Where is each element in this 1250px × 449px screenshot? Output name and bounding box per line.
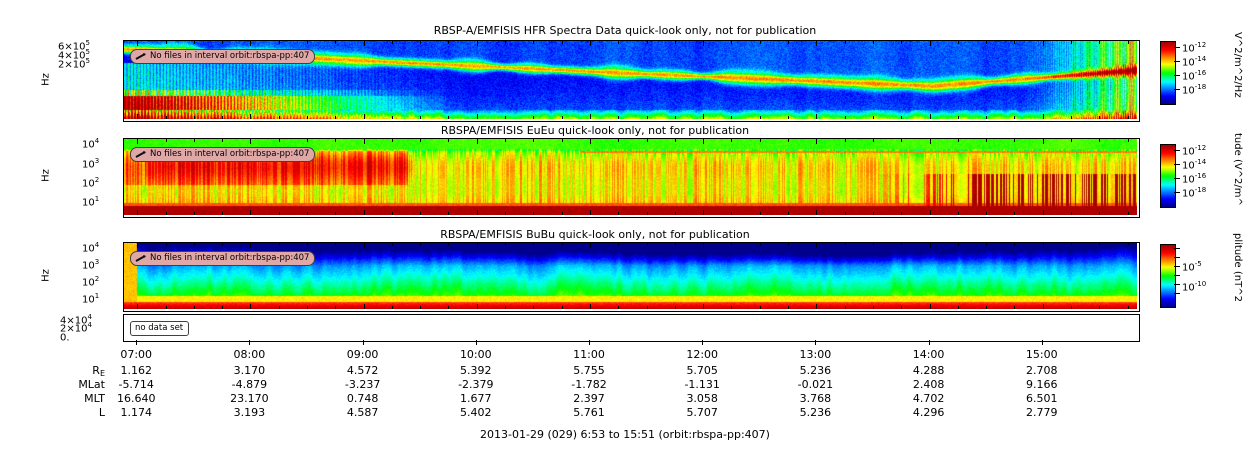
panel-minor-tick xyxy=(307,116,308,119)
ephemeris-value: 23.170 xyxy=(217,392,281,405)
panel-tick xyxy=(1043,210,1044,215)
panel-minor-tick xyxy=(1014,243,1015,246)
xaxis-tick xyxy=(929,340,930,345)
panel-minor-tick xyxy=(307,306,308,309)
panel-minor-tick xyxy=(986,116,987,119)
panel-minor-tick xyxy=(166,116,167,119)
ephemeris-value: 1.162 xyxy=(104,364,168,377)
badge-no-files-bubu[interactable]: No files in interval orbit:rbspa-pp:407 xyxy=(130,251,315,266)
panel-minor-tick xyxy=(505,41,506,44)
colorbar-bubu-tick-1: 10-10 xyxy=(1182,280,1206,293)
ephemeris-value: 5.707 xyxy=(670,406,734,419)
panel-minor-tick xyxy=(1128,243,1129,246)
ephemeris-value: 4.572 xyxy=(331,364,395,377)
panel-minor-tick xyxy=(533,243,534,246)
badge-label: No files in interval orbit:rbspa-pp:407 xyxy=(150,51,309,62)
panel-minor-tick xyxy=(448,139,449,142)
panel-minor-tick xyxy=(392,212,393,215)
panel-minor-tick xyxy=(901,243,902,246)
xaxis-tick-label: 08:00 xyxy=(225,348,273,361)
panel-minor-tick xyxy=(533,306,534,309)
panel-minor-tick xyxy=(194,116,195,119)
panel-minor-tick xyxy=(166,212,167,215)
panel-tick xyxy=(477,304,478,309)
panel-minor-tick xyxy=(420,139,421,142)
ephemeris-value: 3.058 xyxy=(670,392,734,405)
xaxis-tick xyxy=(1042,340,1043,345)
ephemeris-value: 5.392 xyxy=(444,364,508,377)
panel-minor-tick xyxy=(1099,41,1100,44)
panel-minor-tick xyxy=(901,306,902,309)
xaxis-tick xyxy=(815,340,816,345)
panel-minor-tick xyxy=(986,243,987,246)
panel-minor-tick xyxy=(420,212,421,215)
ytick-eueu-1: 103 xyxy=(82,157,99,170)
xaxis-tick xyxy=(136,340,137,345)
ephemeris-value: 0.748 xyxy=(331,392,395,405)
xaxis-tick-label: 12:00 xyxy=(678,348,726,361)
panel-minor-tick xyxy=(618,306,619,309)
xaxis-tick-label: 10:00 xyxy=(452,348,500,361)
panel-minor-tick xyxy=(647,139,648,142)
panel-tick xyxy=(930,41,931,46)
panel-minor-tick xyxy=(845,139,846,142)
xaxis-tick-label: 14:00 xyxy=(905,348,953,361)
panel-tick xyxy=(930,304,931,309)
panel-minor-tick xyxy=(647,41,648,44)
panel-tick xyxy=(250,210,251,215)
panel-minor-tick xyxy=(731,41,732,44)
colorbar-hfr-tick-3: 10-18 xyxy=(1182,83,1206,96)
badge-no-files-eueu[interactable]: No files in interval orbit:rbspa-pp:407 xyxy=(130,147,315,162)
colorbar-bubu-tick-0: 10-5 xyxy=(1182,260,1202,273)
panel-minor-tick xyxy=(562,116,563,119)
panel-minor-tick xyxy=(392,243,393,246)
panel-tick xyxy=(590,139,591,144)
panel-title-bubu: RBSPA/EMFISIS BuBu quick-look only, not … xyxy=(0,228,1190,241)
panel-tick xyxy=(590,41,591,46)
ephemeris-value: -3.237 xyxy=(331,378,395,391)
panel-minor-tick xyxy=(1014,306,1015,309)
panel-minor-tick xyxy=(873,116,874,119)
panel-tick xyxy=(364,210,365,215)
panel-minor-tick xyxy=(788,116,789,119)
panel-minor-tick xyxy=(731,212,732,215)
panel-minor-tick xyxy=(562,212,563,215)
panel-minor-tick xyxy=(505,212,506,215)
panel-minor-tick xyxy=(307,212,308,215)
panel-tick xyxy=(930,114,931,119)
panel-tick xyxy=(1043,243,1044,248)
panel-minor-tick xyxy=(647,116,648,119)
panel-minor-tick xyxy=(1071,116,1072,119)
panel-minor-tick xyxy=(1099,212,1100,215)
panel-tick xyxy=(364,114,365,119)
colorbar-eueu-ticks: 10-12 10-14 10-16 10-18 xyxy=(1174,144,1234,206)
panel-minor-tick xyxy=(335,306,336,309)
ephemeris-value: 1.677 xyxy=(444,392,508,405)
ephemeris-value: 4.288 xyxy=(897,364,961,377)
panel-tick xyxy=(816,210,817,215)
ephemeris-value: 2.708 xyxy=(1010,364,1074,377)
panel-minor-tick xyxy=(448,243,449,246)
panel-minor-tick xyxy=(958,139,959,142)
panel-minor-tick xyxy=(1128,41,1129,44)
panel-minor-tick xyxy=(845,116,846,119)
panel-minor-tick xyxy=(1071,139,1072,142)
ytick-bubu-0: 104 xyxy=(82,241,99,254)
panel-minor-tick xyxy=(279,212,280,215)
ephemeris-value: -4.879 xyxy=(217,378,281,391)
panel-no-data-set[interactable] xyxy=(123,314,1140,342)
panel-minor-tick xyxy=(1128,139,1129,142)
panel-minor-tick xyxy=(194,41,195,44)
ephemeris-row-label: RE xyxy=(0,364,105,378)
panel-minor-tick xyxy=(760,116,761,119)
panel-minor-tick xyxy=(562,306,563,309)
ytick-bubu-3: 101 xyxy=(82,292,99,305)
panel-minor-tick xyxy=(533,41,534,44)
panel-minor-tick xyxy=(222,139,223,142)
no-files-icon xyxy=(135,255,147,262)
panel-minor-tick xyxy=(307,243,308,246)
xaxis-tick-label: 13:00 xyxy=(791,348,839,361)
panel-tick xyxy=(250,114,251,119)
panel-minor-tick xyxy=(533,116,534,119)
panel-minor-tick xyxy=(647,243,648,246)
panel-minor-tick xyxy=(901,41,902,44)
panel-minor-tick xyxy=(533,139,534,142)
ephemeris-value: 5.755 xyxy=(557,364,621,377)
panel-minor-tick xyxy=(448,116,449,119)
xaxis-tick xyxy=(249,340,250,345)
panel-minor-tick xyxy=(166,139,167,142)
panel-minor-tick xyxy=(279,116,280,119)
panel-minor-tick xyxy=(1014,116,1015,119)
panel-minor-tick xyxy=(533,212,534,215)
ephemeris-value: 3.768 xyxy=(783,392,847,405)
panel-minor-tick xyxy=(873,306,874,309)
panel-minor-tick xyxy=(731,116,732,119)
panel-tick xyxy=(250,243,251,248)
panel-minor-tick xyxy=(760,212,761,215)
panel-tick xyxy=(930,210,931,215)
panel-minor-tick xyxy=(958,243,959,246)
panel-tick xyxy=(590,114,591,119)
panel-tick xyxy=(477,41,478,46)
xaxis-tick-label: 15:00 xyxy=(1018,348,1066,361)
panel-tick xyxy=(703,41,704,46)
xaxis: 07:0008:0009:0010:0011:0012:0013:0014:00… xyxy=(0,340,1250,366)
panel-minor-tick xyxy=(505,243,506,246)
colorbar-hfr-title: V^2/m^2/Hz xyxy=(1232,32,1243,98)
panel-minor-tick xyxy=(647,306,648,309)
ephemeris-value: -5.714 xyxy=(104,378,168,391)
panel-minor-tick xyxy=(194,243,195,246)
ephemeris-row-label: MLat xyxy=(0,378,105,391)
panel-minor-tick xyxy=(845,41,846,44)
panel-minor-tick xyxy=(1099,139,1100,142)
panel-minor-tick xyxy=(279,41,280,44)
panel-minor-tick xyxy=(788,212,789,215)
panel-title-hfr: RBSP-A/EMFISIS HFR Spectra Data quick-lo… xyxy=(0,24,1250,37)
badge-no-files-hfr[interactable]: No files in interval orbit:rbspa-pp:407 xyxy=(130,49,315,64)
panel-minor-tick xyxy=(901,212,902,215)
colorbar-hfr-tick-1: 10-14 xyxy=(1182,55,1206,68)
panel-tick xyxy=(930,243,931,248)
panel-tick xyxy=(816,114,817,119)
ephemeris-value: 5.705 xyxy=(670,364,734,377)
panel-minor-tick xyxy=(675,212,676,215)
panel-tick xyxy=(703,114,704,119)
panel-minor-tick xyxy=(1128,212,1129,215)
panel-minor-tick xyxy=(1128,116,1129,119)
panel-minor-tick xyxy=(420,243,421,246)
panel-tick xyxy=(1043,41,1044,46)
panel-minor-tick xyxy=(222,41,223,44)
ephemeris-value: 3.193 xyxy=(217,406,281,419)
panel-minor-tick xyxy=(760,41,761,44)
panel-tick xyxy=(1043,139,1044,144)
panel-minor-tick xyxy=(194,139,195,142)
panel-minor-tick xyxy=(760,243,761,246)
panel-title-eueu: RBSPA/EMFISIS EuEu quick-look only, not … xyxy=(0,124,1190,137)
panel-minor-tick xyxy=(958,41,959,44)
panel-minor-tick xyxy=(1099,243,1100,246)
panel-minor-tick xyxy=(845,306,846,309)
panel-minor-tick xyxy=(675,243,676,246)
ephemeris-value: -1.782 xyxy=(557,378,621,391)
ephemeris-value: -2.379 xyxy=(444,378,508,391)
ephemeris-row-label: MLT xyxy=(0,392,105,405)
colorbar-eueu-tick-1: 10-14 xyxy=(1182,158,1206,171)
ephemeris-value: 4.587 xyxy=(331,406,395,419)
colorbar-bubu-title: plitude (nT^2 xyxy=(1232,233,1243,302)
panel-tick xyxy=(137,41,138,46)
panel-minor-tick xyxy=(279,139,280,142)
panel-minor-tick xyxy=(166,243,167,246)
ephemeris-value: 5.236 xyxy=(783,364,847,377)
panel-tick xyxy=(590,304,591,309)
colorbar-hfr-tick-2: 10-16 xyxy=(1182,69,1206,82)
panel-minor-tick xyxy=(307,139,308,142)
panel-minor-tick xyxy=(1014,41,1015,44)
panel-minor-tick xyxy=(845,212,846,215)
ytick-bubu-1: 103 xyxy=(82,258,99,271)
ephemeris-value: 4.702 xyxy=(897,392,961,405)
panel-tick xyxy=(250,304,251,309)
panel-minor-tick xyxy=(335,116,336,119)
panel-minor-tick xyxy=(392,306,393,309)
xaxis-tick-label: 11:00 xyxy=(565,348,613,361)
xaxis-tick-label: 09:00 xyxy=(339,348,387,361)
ephemeris-value: 2.397 xyxy=(557,392,621,405)
panel-minor-tick xyxy=(1014,139,1015,142)
panel-minor-tick xyxy=(392,139,393,142)
panel-tick xyxy=(590,243,591,248)
panel-minor-tick xyxy=(279,243,280,246)
ephemeris-value: 5.236 xyxy=(783,406,847,419)
panel-tick xyxy=(137,304,138,309)
panel-minor-tick xyxy=(505,306,506,309)
colorbar-eueu-title: tude (V^2/m^ xyxy=(1232,133,1243,206)
ephemeris-value: -1.131 xyxy=(670,378,734,391)
colorbar-bubu-ticks: 10-5 10-10 xyxy=(1174,244,1234,306)
panel-minor-tick xyxy=(618,41,619,44)
panel-tick xyxy=(477,114,478,119)
panel-tick xyxy=(930,139,931,144)
panel-minor-tick xyxy=(1071,306,1072,309)
panel-minor-tick xyxy=(675,116,676,119)
panel-minor-tick xyxy=(222,116,223,119)
panel-tick xyxy=(703,304,704,309)
xaxis-tick xyxy=(702,340,703,345)
panel-minor-tick xyxy=(1071,41,1072,44)
yaxis-label-bubu: Hz xyxy=(41,266,52,286)
xaxis-tick xyxy=(363,340,364,345)
panel-minor-tick xyxy=(901,116,902,119)
colorbar-eueu-tick-2: 10-16 xyxy=(1182,172,1206,185)
ephemeris-row-label: L xyxy=(0,406,105,419)
panel-minor-tick xyxy=(873,212,874,215)
panel-minor-tick xyxy=(845,243,846,246)
panel-minor-tick xyxy=(788,139,789,142)
panel-tick xyxy=(250,41,251,46)
panel-minor-tick xyxy=(1128,306,1129,309)
panel-minor-tick xyxy=(873,243,874,246)
panel-tick xyxy=(477,139,478,144)
panel-minor-tick xyxy=(618,139,619,142)
panel-minor-tick xyxy=(986,139,987,142)
panel-minor-tick xyxy=(986,41,987,44)
panel-minor-tick xyxy=(335,139,336,142)
panel-minor-tick xyxy=(335,212,336,215)
panel-minor-tick xyxy=(958,212,959,215)
panel-tick xyxy=(364,41,365,46)
panel-tick xyxy=(816,139,817,144)
panel-minor-tick xyxy=(788,306,789,309)
ephemeris-table: RE1.1623.1704.5725.3925.7555.7055.2364.2… xyxy=(0,364,1250,422)
panel-minor-tick xyxy=(448,212,449,215)
panel-minor-tick xyxy=(335,41,336,44)
xaxis-tick xyxy=(589,340,590,345)
panel-minor-tick xyxy=(901,139,902,142)
ytick-eueu-2: 102 xyxy=(82,176,99,189)
panel-minor-tick xyxy=(958,306,959,309)
ephemeris-value: 4.296 xyxy=(897,406,961,419)
panel-minor-tick xyxy=(420,41,421,44)
panel-minor-tick xyxy=(788,243,789,246)
panel-tick xyxy=(364,139,365,144)
panel-minor-tick xyxy=(618,116,619,119)
ephemeris-value: -0.021 xyxy=(783,378,847,391)
panel-minor-tick xyxy=(222,306,223,309)
panel-minor-tick xyxy=(307,41,308,44)
panel-minor-tick xyxy=(392,41,393,44)
ytick-bubu-2: 102 xyxy=(82,275,99,288)
panel-minor-tick xyxy=(675,139,676,142)
panel-tick xyxy=(703,139,704,144)
ytick-eueu-0: 104 xyxy=(82,137,99,150)
panel-minor-tick xyxy=(420,306,421,309)
panel-tick xyxy=(477,210,478,215)
panel-minor-tick xyxy=(618,212,619,215)
ephemeris-value: 9.166 xyxy=(1010,378,1074,391)
panel-minor-tick xyxy=(166,306,167,309)
panel-minor-tick xyxy=(448,41,449,44)
panel-tick xyxy=(816,304,817,309)
panel-minor-tick xyxy=(760,139,761,142)
panel-minor-tick xyxy=(1014,212,1015,215)
ephemeris-value: 16.640 xyxy=(104,392,168,405)
panel-tick xyxy=(816,41,817,46)
panel-minor-tick xyxy=(618,243,619,246)
panel-tick xyxy=(703,243,704,248)
panel-tick xyxy=(590,210,591,215)
panel-tick xyxy=(1043,304,1044,309)
panel-minor-tick xyxy=(986,212,987,215)
panel-minor-tick xyxy=(562,41,563,44)
panel-minor-tick xyxy=(675,41,676,44)
no-files-icon xyxy=(135,151,147,158)
panel-tick xyxy=(703,210,704,215)
panel-minor-tick xyxy=(505,116,506,119)
panel-minor-tick xyxy=(1099,306,1100,309)
panel-minor-tick xyxy=(1071,243,1072,246)
colorbar-hfr-tick-0: 10-12 xyxy=(1182,41,1206,54)
ephemeris-value: 5.402 xyxy=(444,406,508,419)
colorbar-hfr-ticks: 10-12 10-14 10-16 10-18 xyxy=(1174,41,1234,103)
panel-minor-tick xyxy=(194,212,195,215)
ephemeris-value: 1.174 xyxy=(104,406,168,419)
panel-minor-tick xyxy=(760,306,761,309)
panel-minor-tick xyxy=(562,139,563,142)
panel-minor-tick xyxy=(1099,116,1100,119)
panel-minor-tick xyxy=(392,116,393,119)
panel-minor-tick xyxy=(1071,212,1072,215)
panel-tick xyxy=(364,304,365,309)
xaxis-tick xyxy=(476,340,477,345)
panel-minor-tick xyxy=(873,41,874,44)
xaxis-tick-label: 07:00 xyxy=(112,348,160,361)
panel-minor-tick xyxy=(222,212,223,215)
ephemeris-value: 6.501 xyxy=(1010,392,1074,405)
panel-minor-tick xyxy=(279,306,280,309)
badge-no-data-set[interactable]: no data set xyxy=(130,321,189,336)
ephemeris-value: 3.170 xyxy=(217,364,281,377)
panel-minor-tick xyxy=(731,306,732,309)
colorbar-eueu-tick-3: 10-18 xyxy=(1182,186,1206,199)
panel-tick xyxy=(364,243,365,248)
panel-minor-tick xyxy=(166,41,167,44)
panel-minor-tick xyxy=(562,243,563,246)
panel-minor-tick xyxy=(675,306,676,309)
panel-minor-tick xyxy=(420,116,421,119)
yaxis-label-hfr: Hz xyxy=(41,70,52,90)
panel-minor-tick xyxy=(986,306,987,309)
no-files-icon xyxy=(135,53,147,60)
panel-minor-tick xyxy=(873,139,874,142)
panel-minor-tick xyxy=(505,139,506,142)
panel-minor-tick xyxy=(958,116,959,119)
panel-minor-tick xyxy=(731,139,732,142)
panel-tick xyxy=(137,114,138,119)
panel-minor-tick xyxy=(448,306,449,309)
panel-minor-tick xyxy=(194,306,195,309)
panel-tick xyxy=(137,139,138,144)
badge-label: No files in interval orbit:rbspa-pp:407 xyxy=(150,149,309,160)
colorbar-eueu-tick-0: 10-12 xyxy=(1182,144,1206,157)
